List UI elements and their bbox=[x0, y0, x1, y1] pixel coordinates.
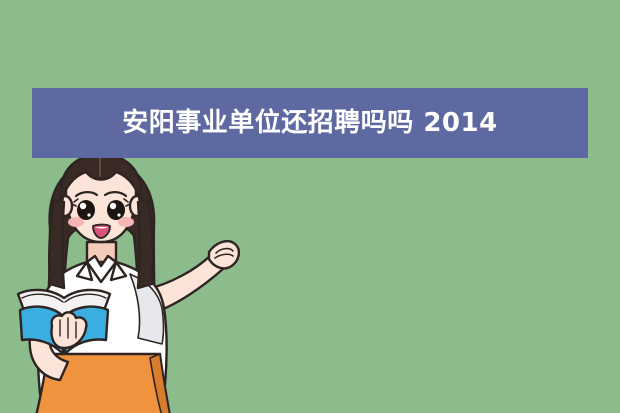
eye-left-icon bbox=[77, 200, 95, 220]
eye-sparkle-left-icon bbox=[87, 213, 90, 216]
hair-strand-left-icon bbox=[49, 200, 64, 288]
eye-highlight-left-icon bbox=[80, 203, 86, 209]
thumbnail-card: 安阳事业单位还招聘吗吗 2014 bbox=[0, 0, 620, 413]
eye-right-icon bbox=[107, 200, 125, 220]
blush-right-icon bbox=[118, 217, 134, 227]
eye-sparkle-right-icon bbox=[117, 213, 120, 216]
blush-left-icon bbox=[68, 217, 84, 227]
page-title: 安阳事业单位还招聘吗吗 2014 bbox=[122, 110, 497, 136]
title-banner: 安阳事业单位还招聘吗吗 2014 bbox=[32, 88, 588, 158]
hair-strand-right-icon bbox=[138, 200, 153, 288]
eye-highlight-right-icon bbox=[110, 203, 116, 209]
cartoon-student-girl-presenting-illustration bbox=[4, 158, 304, 413]
